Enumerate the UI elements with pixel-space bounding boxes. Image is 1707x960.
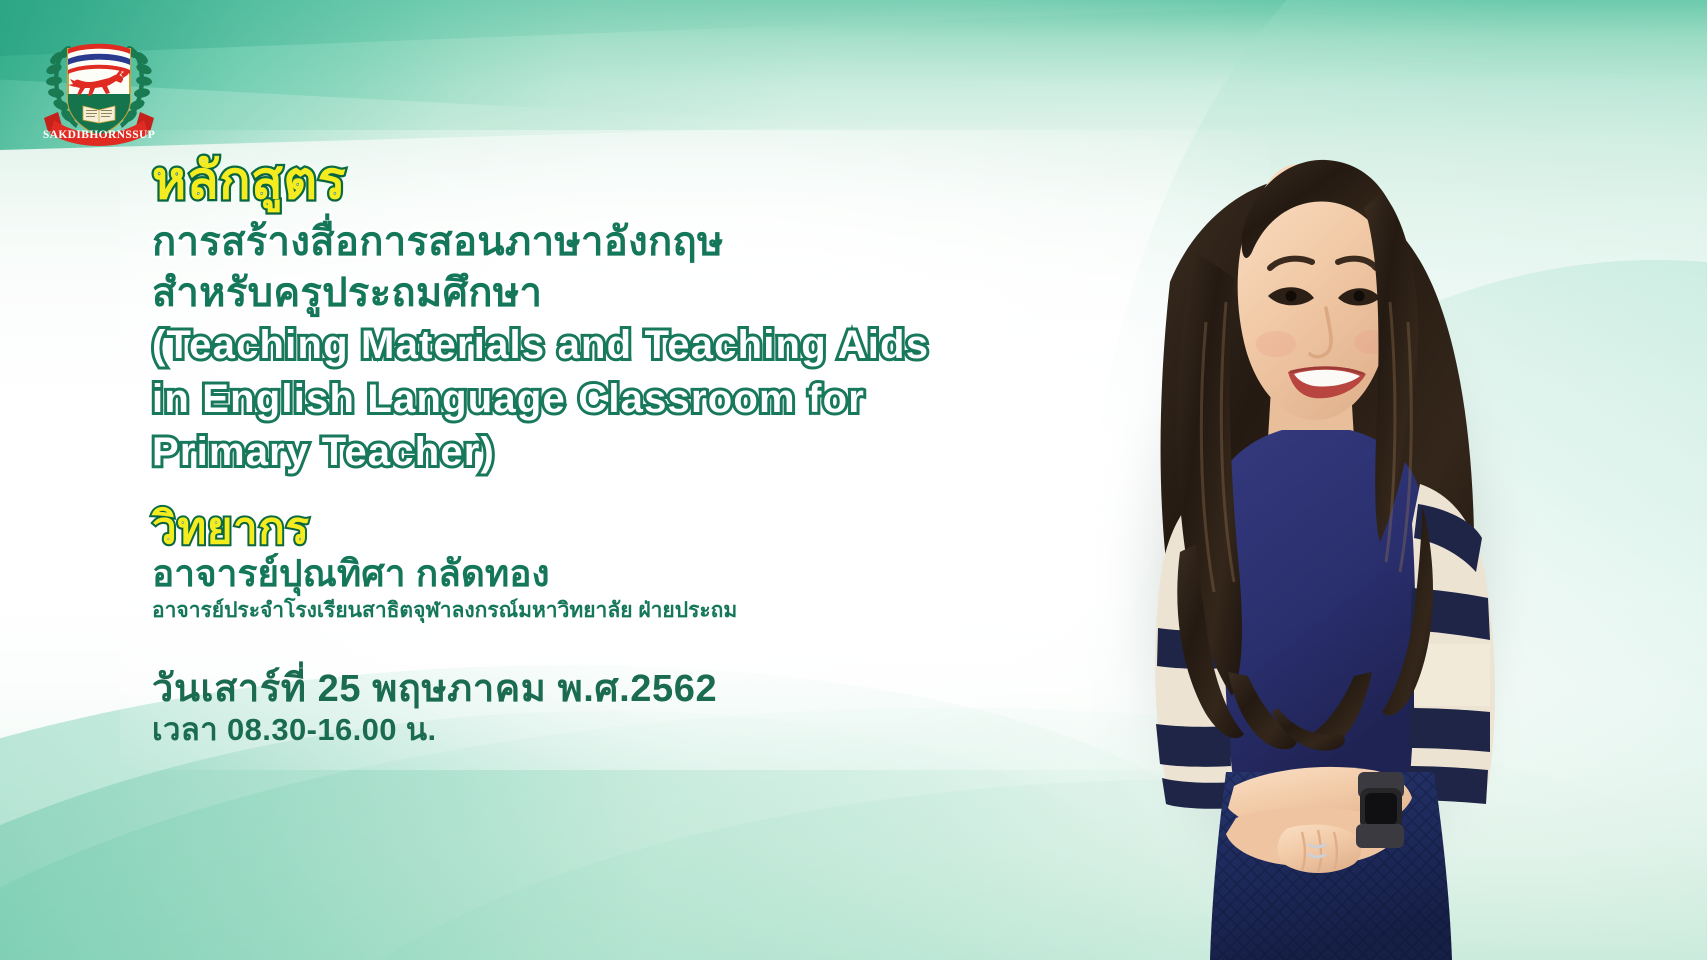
course-label: หลักสูตร xyxy=(152,155,1102,207)
seminar-poster: SAKDIBHORNSSUP หลักสูตร การสร้างสื่อการส… xyxy=(0,0,1707,960)
smartwatch xyxy=(1356,772,1404,848)
title-english-line-3: Primary Teacher) xyxy=(152,426,1102,479)
crest-banner-text: SAKDIBHORNSSUP xyxy=(43,129,155,141)
event-date: วันเสาร์ที่ 25 พฤษภาคม พ.ศ.2562 xyxy=(152,668,1102,712)
spacer xyxy=(152,624,1102,668)
title-thai-line-2: สำหรับครูประถมศึกษา xyxy=(152,268,1102,319)
title-thai-line-1: การสร้างสื่อการสอนภาษาอังกฤษ xyxy=(152,217,1102,268)
title-english-line-2: in English Language Classroom for xyxy=(152,373,1102,426)
title-english-line-1: (Teaching Materials and Teaching Aids xyxy=(152,319,1102,372)
poster-text-block: หลักสูตร การสร้างสื่อการสอนภาษาอังกฤษ สำ… xyxy=(152,155,1102,748)
speaker-label: วิทยากร xyxy=(152,507,1102,551)
speaker-name: อาจารย์ปุณทิศา กลัดทอง xyxy=(152,551,1102,597)
spacer xyxy=(152,479,1102,507)
school-crest-logo: SAKDIBHORNSSUP xyxy=(28,22,170,150)
cheek-left xyxy=(1256,331,1296,357)
speaker-affiliation: อาจารย์ประจำโรงเรียนสาธิตจุฬาลงกรณ์มหาวิ… xyxy=(152,597,1102,624)
speaker-portrait xyxy=(1020,72,1580,960)
event-time: เวลา 08.30-16.00 น. xyxy=(152,712,1102,748)
